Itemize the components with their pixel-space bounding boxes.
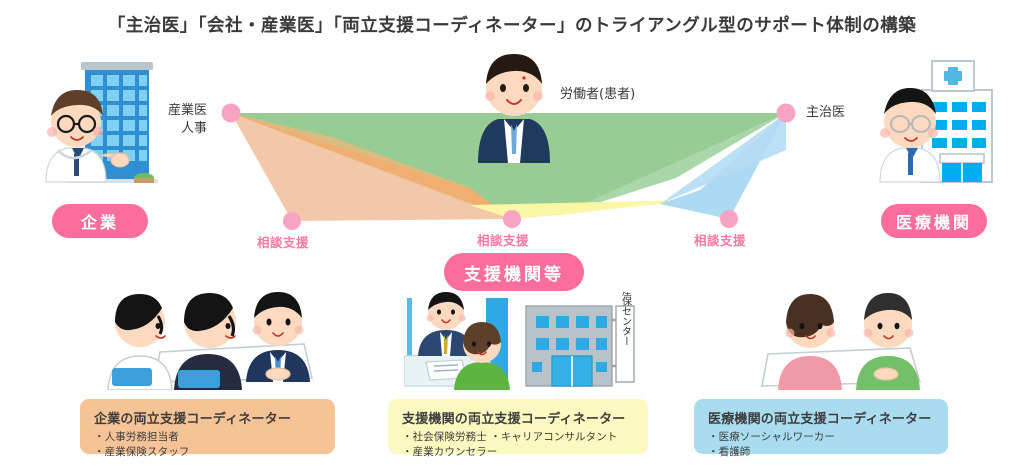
caption-company-line-1: ・人事労務担当者 — [94, 430, 323, 445]
badge-medical-institution[interactable]: 医療機関 — [881, 204, 987, 238]
illustration-medical-counseling — [760, 286, 960, 390]
illustration-company-meeting — [98, 286, 326, 390]
node-occupational-physician — [222, 104, 241, 123]
label-worker-patient: 労働者(患者) — [560, 86, 635, 104]
fan-green-left-edge — [231, 113, 470, 205]
caption-company-title: 企業の両立支援コーディネーター — [94, 408, 323, 427]
badge-company[interactable]: 企業 — [52, 204, 148, 238]
illustration-worker-patient — [468, 48, 560, 163]
node-support-center — [503, 210, 521, 228]
fan-blue-2 — [660, 113, 786, 204]
fan-yellow — [470, 200, 690, 219]
infographic-canvas: 「主治医」「会社・産業医」「両立支援コーディネーター」のトライアングル型のサポー… — [0, 0, 1024, 468]
label-support-right: 相談支援 — [694, 230, 746, 249]
caption-medical: 医療機関の両立支援コーディネーター ・医療ソーシャルワーカー ・看護師 — [694, 399, 948, 454]
support-center-sign-text: 産保センター — [620, 292, 632, 346]
node-support-left — [283, 212, 301, 230]
badge-support-org[interactable]: 支援機関等 — [444, 253, 584, 291]
label-attending-physician: 主治医 — [806, 104, 845, 122]
caption-company-line-2: ・産業保険スタッフ — [94, 445, 323, 460]
illustration-support-consultation: 産保センター — [404, 292, 636, 390]
caption-support-line-2: ・産業カウンセラー — [402, 445, 636, 460]
caption-support-title: 支援機関の両立支援コーディネーター — [402, 408, 636, 427]
caption-medical-line-2: ・看護師 — [708, 445, 936, 460]
node-attending-physician — [777, 104, 796, 123]
caption-support-org: 支援機関の両立支援コーディネーター ・社会保険労務士 ・キャリアコンサルタント … — [388, 399, 648, 454]
caption-medical-line-1: ・医療ソーシャルワーカー — [708, 430, 936, 445]
fan-yellow-2 — [470, 204, 660, 219]
caption-support-line-1: ・社会保険労務士 ・キャリアコンサルタント — [402, 430, 636, 445]
fan-green-right — [560, 113, 786, 215]
label-support-left: 相談支援 — [257, 232, 309, 251]
label-line-2: 人事 — [168, 120, 207, 138]
label-support-center: 相談支援 — [477, 230, 529, 249]
illustration-hospital-doctor — [862, 50, 1002, 195]
illustration-company-doctor — [28, 50, 168, 195]
fan-blue — [660, 113, 786, 219]
label-occupational-physician: 産業医 人事 — [168, 102, 207, 137]
label-line-1: 産業医 — [168, 102, 207, 120]
caption-company: 企業の両立支援コーディネーター ・人事労務担当者 ・産業保険スタッフ — [80, 399, 335, 454]
page-title: 「主治医」「会社・産業医」「両立支援コーディネーター」のトライアングル型のサポー… — [0, 12, 1024, 37]
caption-medical-title: 医療機関の両立支援コーディネーター — [708, 408, 936, 427]
node-support-right — [720, 210, 738, 228]
fan-orange-2 — [231, 113, 470, 188]
